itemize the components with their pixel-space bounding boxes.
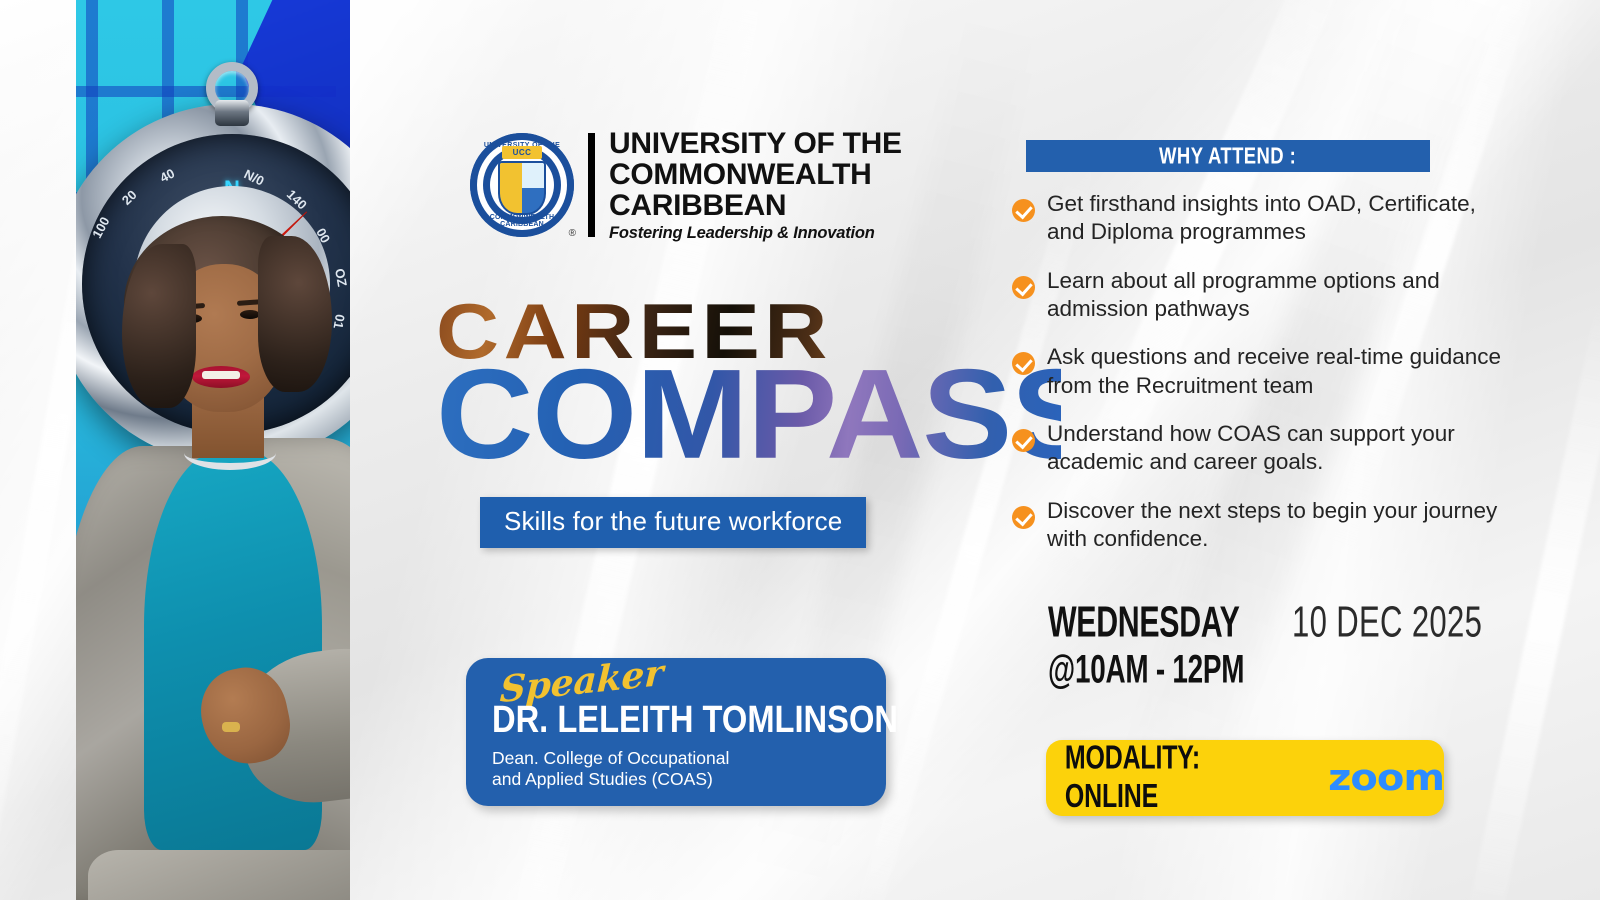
check-circle-icon bbox=[1012, 352, 1035, 375]
crest-monogram: UCC bbox=[502, 146, 542, 159]
compass-tick: 20 bbox=[119, 187, 140, 208]
speaker-role: Dean. College of Occupational and Applie… bbox=[492, 748, 886, 791]
university-name-line3: CARIBBEAN bbox=[609, 190, 902, 221]
teeth bbox=[202, 371, 240, 379]
zoom-logo-icon: zoom bbox=[1328, 757, 1444, 799]
event-weekday: WEDNESDAY bbox=[1048, 599, 1239, 646]
check-circle-icon bbox=[1012, 506, 1035, 529]
brand-header: UNIVERSITY OF THE UCC COMMONWEALTH CARIB… bbox=[470, 128, 902, 241]
speaker-name: DR. LELEITH TOMLINSON bbox=[492, 698, 882, 741]
list-item: Discover the next steps to begin your jo… bbox=[1012, 497, 1512, 554]
benefit-text: Get firsthand insights into OAD, Certifi… bbox=[1047, 190, 1512, 247]
list-item: Learn about all programme options and ad… bbox=[1012, 267, 1512, 324]
ring bbox=[222, 722, 240, 732]
benefit-text: Ask questions and receive real-time guid… bbox=[1047, 343, 1512, 400]
compass-neck bbox=[215, 100, 249, 126]
event-time: @10AM - 12PM bbox=[1048, 647, 1244, 693]
event-datetime: WEDNESDAY 10 DEC 2025 @10AM - 12PM bbox=[1048, 606, 1478, 693]
flyer-canvas: N 100 20 40 N/0 140 00 OZ 01 bbox=[0, 0, 1600, 900]
modality-label: MODALITY: ONLINE bbox=[1065, 740, 1297, 817]
list-item: Understand how COAS can support your aca… bbox=[1012, 420, 1512, 477]
event-date: 10 DEC 2025 bbox=[1292, 599, 1482, 646]
benefit-text: Learn about all programme options and ad… bbox=[1047, 267, 1512, 324]
ucc-crest-icon: UNIVERSITY OF THE UCC COMMONWEALTH CARIB… bbox=[470, 133, 574, 237]
list-item: Ask questions and receive real-time guid… bbox=[1012, 343, 1512, 400]
check-circle-icon bbox=[1012, 276, 1035, 299]
shield-quadrant bbox=[500, 188, 522, 213]
speaker-photo-panel: N 100 20 40 N/0 140 00 OZ 01 bbox=[76, 0, 350, 900]
compass-tick: N/0 bbox=[242, 166, 267, 188]
skirt bbox=[88, 850, 350, 900]
university-tagline: Fostering Leadership & Innovation bbox=[609, 225, 902, 242]
benefit-text: Understand how COAS can support your aca… bbox=[1047, 420, 1512, 477]
shield-quadrant bbox=[500, 163, 522, 188]
modality-badge: MODALITY: ONLINE zoom bbox=[1046, 740, 1444, 816]
university-name-line1: UNIVERSITY OF THE bbox=[609, 128, 902, 159]
speaker-role-line2: and Applied Studies (COAS) bbox=[492, 769, 886, 790]
shield-quadrant bbox=[522, 163, 544, 188]
university-name-block: UNIVERSITY OF THE COMMONWEALTH CARIBBEAN… bbox=[609, 128, 902, 241]
crest-arc-bottom-text: COMMONWEALTH CARIBBEAN bbox=[470, 214, 574, 228]
speaker-portrait bbox=[76, 210, 350, 900]
university-name-line2: COMMONWEALTH bbox=[609, 159, 902, 190]
speaker-card: Speaker DR. LELEITH TOMLINSON Dean. Coll… bbox=[466, 658, 886, 806]
eye-right bbox=[240, 310, 260, 319]
event-date-line: WEDNESDAY 10 DEC 2025 bbox=[1048, 606, 1478, 646]
why-attend-heading: WHY ATTEND : bbox=[1159, 142, 1296, 169]
shield-quadrant bbox=[522, 188, 544, 213]
check-circle-icon bbox=[1012, 199, 1035, 222]
why-attend-banner: WHY ATTEND : bbox=[1026, 140, 1430, 172]
why-attend-list: Get firsthand insights into OAD, Certifi… bbox=[1012, 190, 1512, 573]
title-compass: COMPASS bbox=[436, 357, 1061, 469]
speaker-role-line1: Dean. College of Occupational bbox=[492, 748, 886, 769]
benefit-text: Discover the next steps to begin your jo… bbox=[1047, 497, 1512, 554]
compass-tick: 40 bbox=[157, 166, 177, 186]
check-circle-icon bbox=[1012, 429, 1035, 452]
necklace bbox=[184, 436, 276, 470]
list-item: Get firsthand insights into OAD, Certifi… bbox=[1012, 190, 1512, 247]
logo-divider bbox=[588, 133, 595, 237]
event-title-block: CAREER COMPASS Skills for the future wor… bbox=[436, 296, 936, 548]
subtitle-banner: Skills for the future workforce bbox=[480, 497, 866, 548]
hair-front-right bbox=[258, 236, 332, 392]
crest-shield bbox=[498, 161, 546, 215]
registered-mark: ® bbox=[569, 228, 576, 239]
subtitle-text: Skills for the future workforce bbox=[504, 506, 842, 536]
